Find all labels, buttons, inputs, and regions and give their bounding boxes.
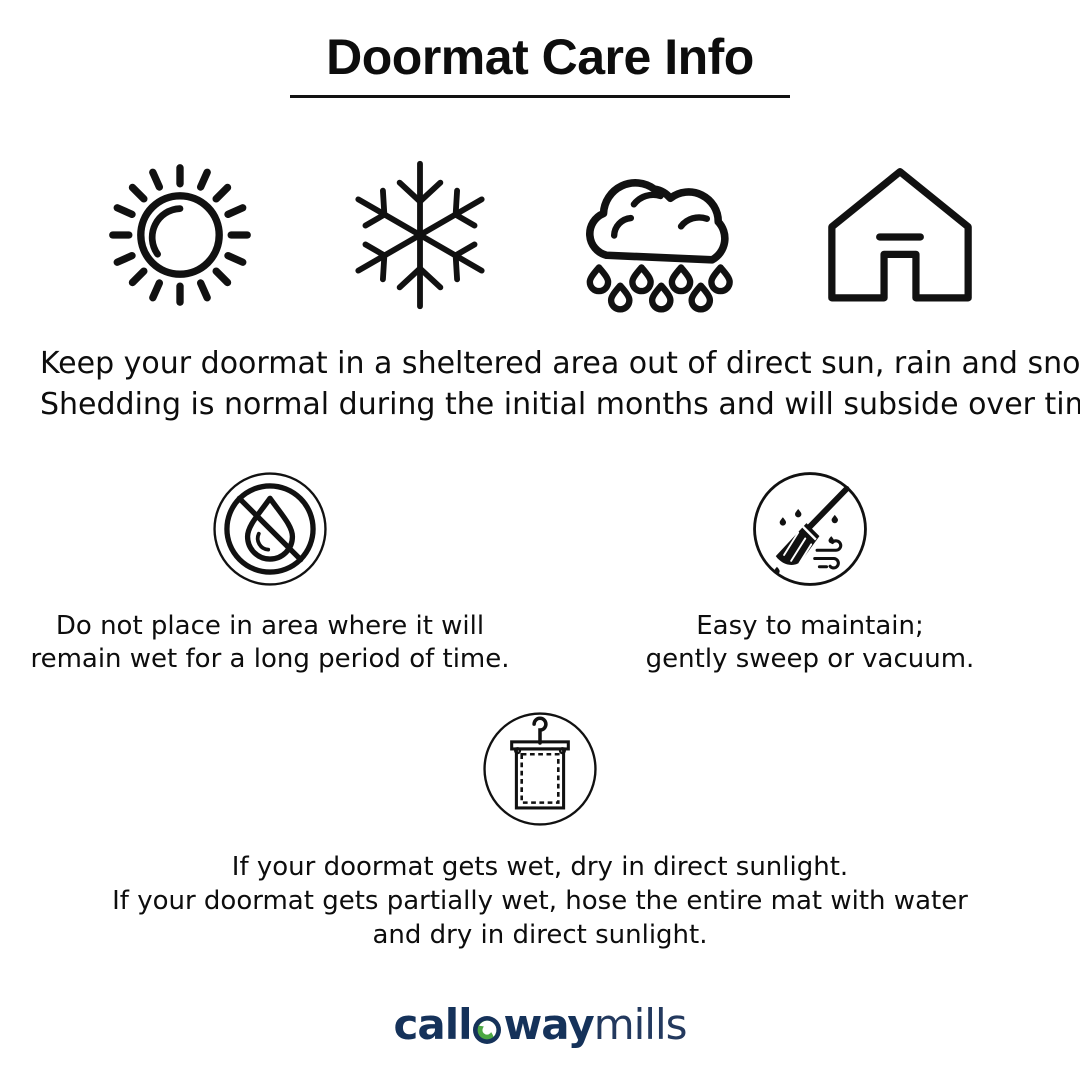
weather-cell-house (780, 150, 1020, 320)
broom-sweep-icon (751, 470, 869, 588)
logo-sub: mills (594, 1004, 687, 1046)
brand-logo: call way mills (0, 1004, 1080, 1046)
no-water-caption-line-1: Do not place in area where it will (30, 610, 509, 643)
care-items-row: Do not place in area where it will remai… (0, 470, 1080, 676)
drying-line-2: If your doormat gets partially wet, hose… (112, 884, 968, 918)
weather-cell-snowflake (300, 150, 540, 320)
no-water-icon (211, 470, 329, 588)
hanging-mat-badge (481, 710, 599, 828)
drying-section: If your doormat gets wet, dry in direct … (0, 710, 1080, 952)
logo-brand: call way (393, 1004, 593, 1046)
drying-paragraph: If your doormat gets wet, dry in direct … (112, 850, 968, 952)
weather-cell-sun (60, 150, 300, 320)
drying-line-3: and dry in direct sunlight. (112, 918, 968, 952)
logo-brand-prefix: call (393, 1004, 471, 1046)
care-item-caption: Do not place in area where it will remai… (30, 610, 509, 676)
page-title: Doormat Care Info (0, 28, 1080, 86)
sun-icon (100, 155, 260, 315)
broom-badge (751, 470, 869, 588)
hanging-mat-icon (481, 710, 599, 828)
sweep-caption-line-2: gently sweep or vacuum. (646, 643, 975, 676)
intro-line-1: Keep your doormat in a sheltered area ou… (40, 343, 1040, 384)
snowflake-icon (345, 155, 495, 315)
intro-line-2: Shedding is normal during the initial mo… (40, 384, 1040, 425)
care-item-no-water: Do not place in area where it will remai… (0, 470, 540, 676)
care-item-caption: Easy to maintain; gently sweep or vacuum… (646, 610, 975, 676)
logo-text: call way mills (393, 1004, 686, 1046)
title-block: Doormat Care Info (0, 28, 1080, 98)
sweep-caption-line-1: Easy to maintain; (646, 610, 975, 643)
title-underline-rule (290, 95, 790, 98)
house-icon (820, 163, 980, 308)
logo-leaf-o-icon (472, 1010, 502, 1040)
care-item-sweep: Easy to maintain; gently sweep or vacuum… (540, 470, 1080, 676)
intro-paragraph: Keep your doormat in a sheltered area ou… (40, 343, 1040, 425)
weather-icon-row (60, 150, 1020, 320)
logo-brand-suffix: way (503, 1004, 593, 1046)
care-info-page: Doormat Care Info (0, 0, 1080, 1080)
no-water-caption-line-2: remain wet for a long period of time. (30, 643, 509, 676)
no-water-badge (211, 470, 329, 588)
drying-line-1: If your doormat gets wet, dry in direct … (112, 850, 968, 884)
rain-cloud-icon (573, 158, 748, 313)
weather-cell-rain-cloud (540, 150, 780, 320)
